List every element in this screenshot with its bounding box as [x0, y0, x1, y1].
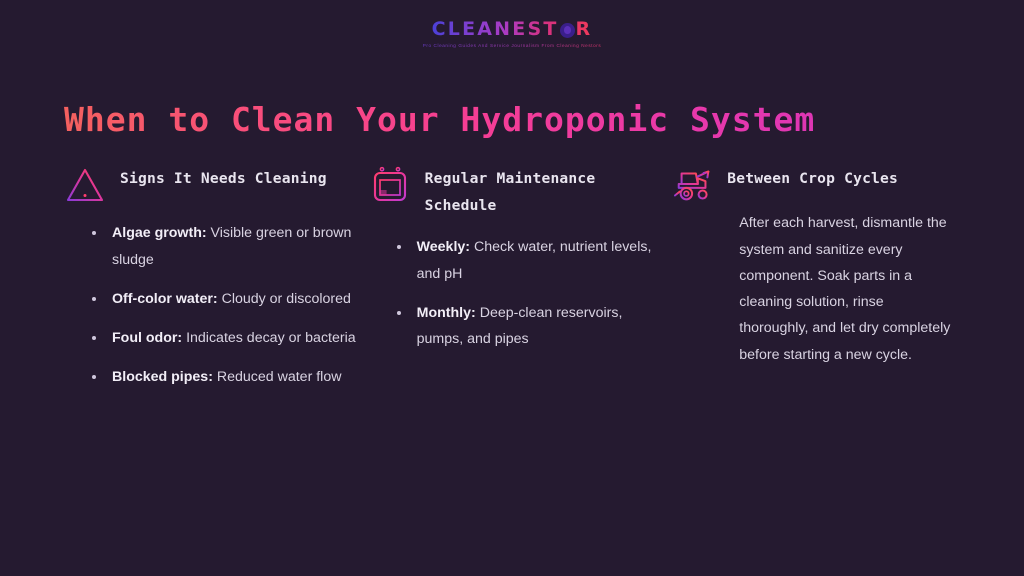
crop-cycles-paragraph: After each harvest, dismantle the system… [739, 210, 954, 368]
brand-tagline: Pro Cleaning Guides And Service Journali… [423, 43, 602, 48]
brand-wordmark: CLEANEST R [432, 20, 593, 39]
list-item-label: Off-color water: [112, 291, 218, 307]
brand-logo[interactable]: CLEANEST R Pro Cleaning Guides And Servi… [423, 20, 602, 48]
list-item-text: Cloudy or discolored [218, 291, 351, 307]
column-title: Between Crop Cycles [727, 166, 898, 193]
signs-list: Algae growth: Visible green or brown slu… [90, 220, 357, 390]
list-item-label: Algae growth: [112, 225, 207, 241]
column-header: Between Crop Cycles [673, 166, 964, 206]
list-item: Off-color water: Cloudy or discolored [90, 286, 357, 312]
list-item: Foul odor: Indicates decay or bacteria [90, 325, 357, 351]
column-header: Signs It Needs Cleaning [64, 166, 357, 206]
column-signs-it-needs-cleaning: Signs It Needs Cleaning Algae growth: Vi… [64, 166, 357, 403]
list-item: Blocked pipes: Reduced water flow [90, 364, 357, 390]
warning-triangle-icon [64, 164, 106, 206]
schedule-list: Weekly: Check water, nutrient levels, an… [395, 234, 662, 352]
column-between-crop-cycles: Between Crop Cycles After each harvest, … [673, 166, 964, 403]
column-body: After each harvest, dismantle the system… [739, 210, 964, 368]
list-item: Monthly: Deep-clean reservoirs, pumps, a… [395, 300, 662, 353]
combine-harvester-icon [673, 164, 715, 206]
list-item-label: Blocked pipes: [112, 369, 213, 385]
list-item-label: Foul odor: [112, 330, 182, 346]
brand-name-part2: R [576, 20, 593, 39]
circle-logo-mark-icon [560, 23, 575, 38]
slide-root: { "brand": { "name_part1": "CLEANEST", "… [0, 0, 1024, 576]
list-item-text: Indicates decay or bacteria [182, 330, 356, 346]
page-title: When to Clean Your Hydroponic System [64, 102, 1024, 138]
content-columns: Signs It Needs Cleaning Algae growth: Vi… [0, 166, 1024, 403]
list-item-text: Reduced water flow [213, 369, 342, 385]
brand-name-part1: CLEANEST [432, 20, 559, 39]
column-regular-maintenance-schedule: Regular Maintenance Schedule Weekly: Che… [369, 166, 662, 403]
column-title: Signs It Needs Cleaning [120, 166, 327, 193]
calendar-icon [369, 164, 411, 206]
site-header: CLEANEST R Pro Cleaning Guides And Servi… [0, 0, 1024, 58]
list-item: Weekly: Check water, nutrient levels, an… [395, 234, 662, 287]
list-item: Algae growth: Visible green or brown slu… [90, 220, 357, 273]
column-title: Regular Maintenance Schedule [425, 166, 662, 220]
list-item-label: Monthly: [417, 305, 476, 321]
list-item-label: Weekly: [417, 239, 470, 255]
column-header: Regular Maintenance Schedule [369, 166, 662, 220]
